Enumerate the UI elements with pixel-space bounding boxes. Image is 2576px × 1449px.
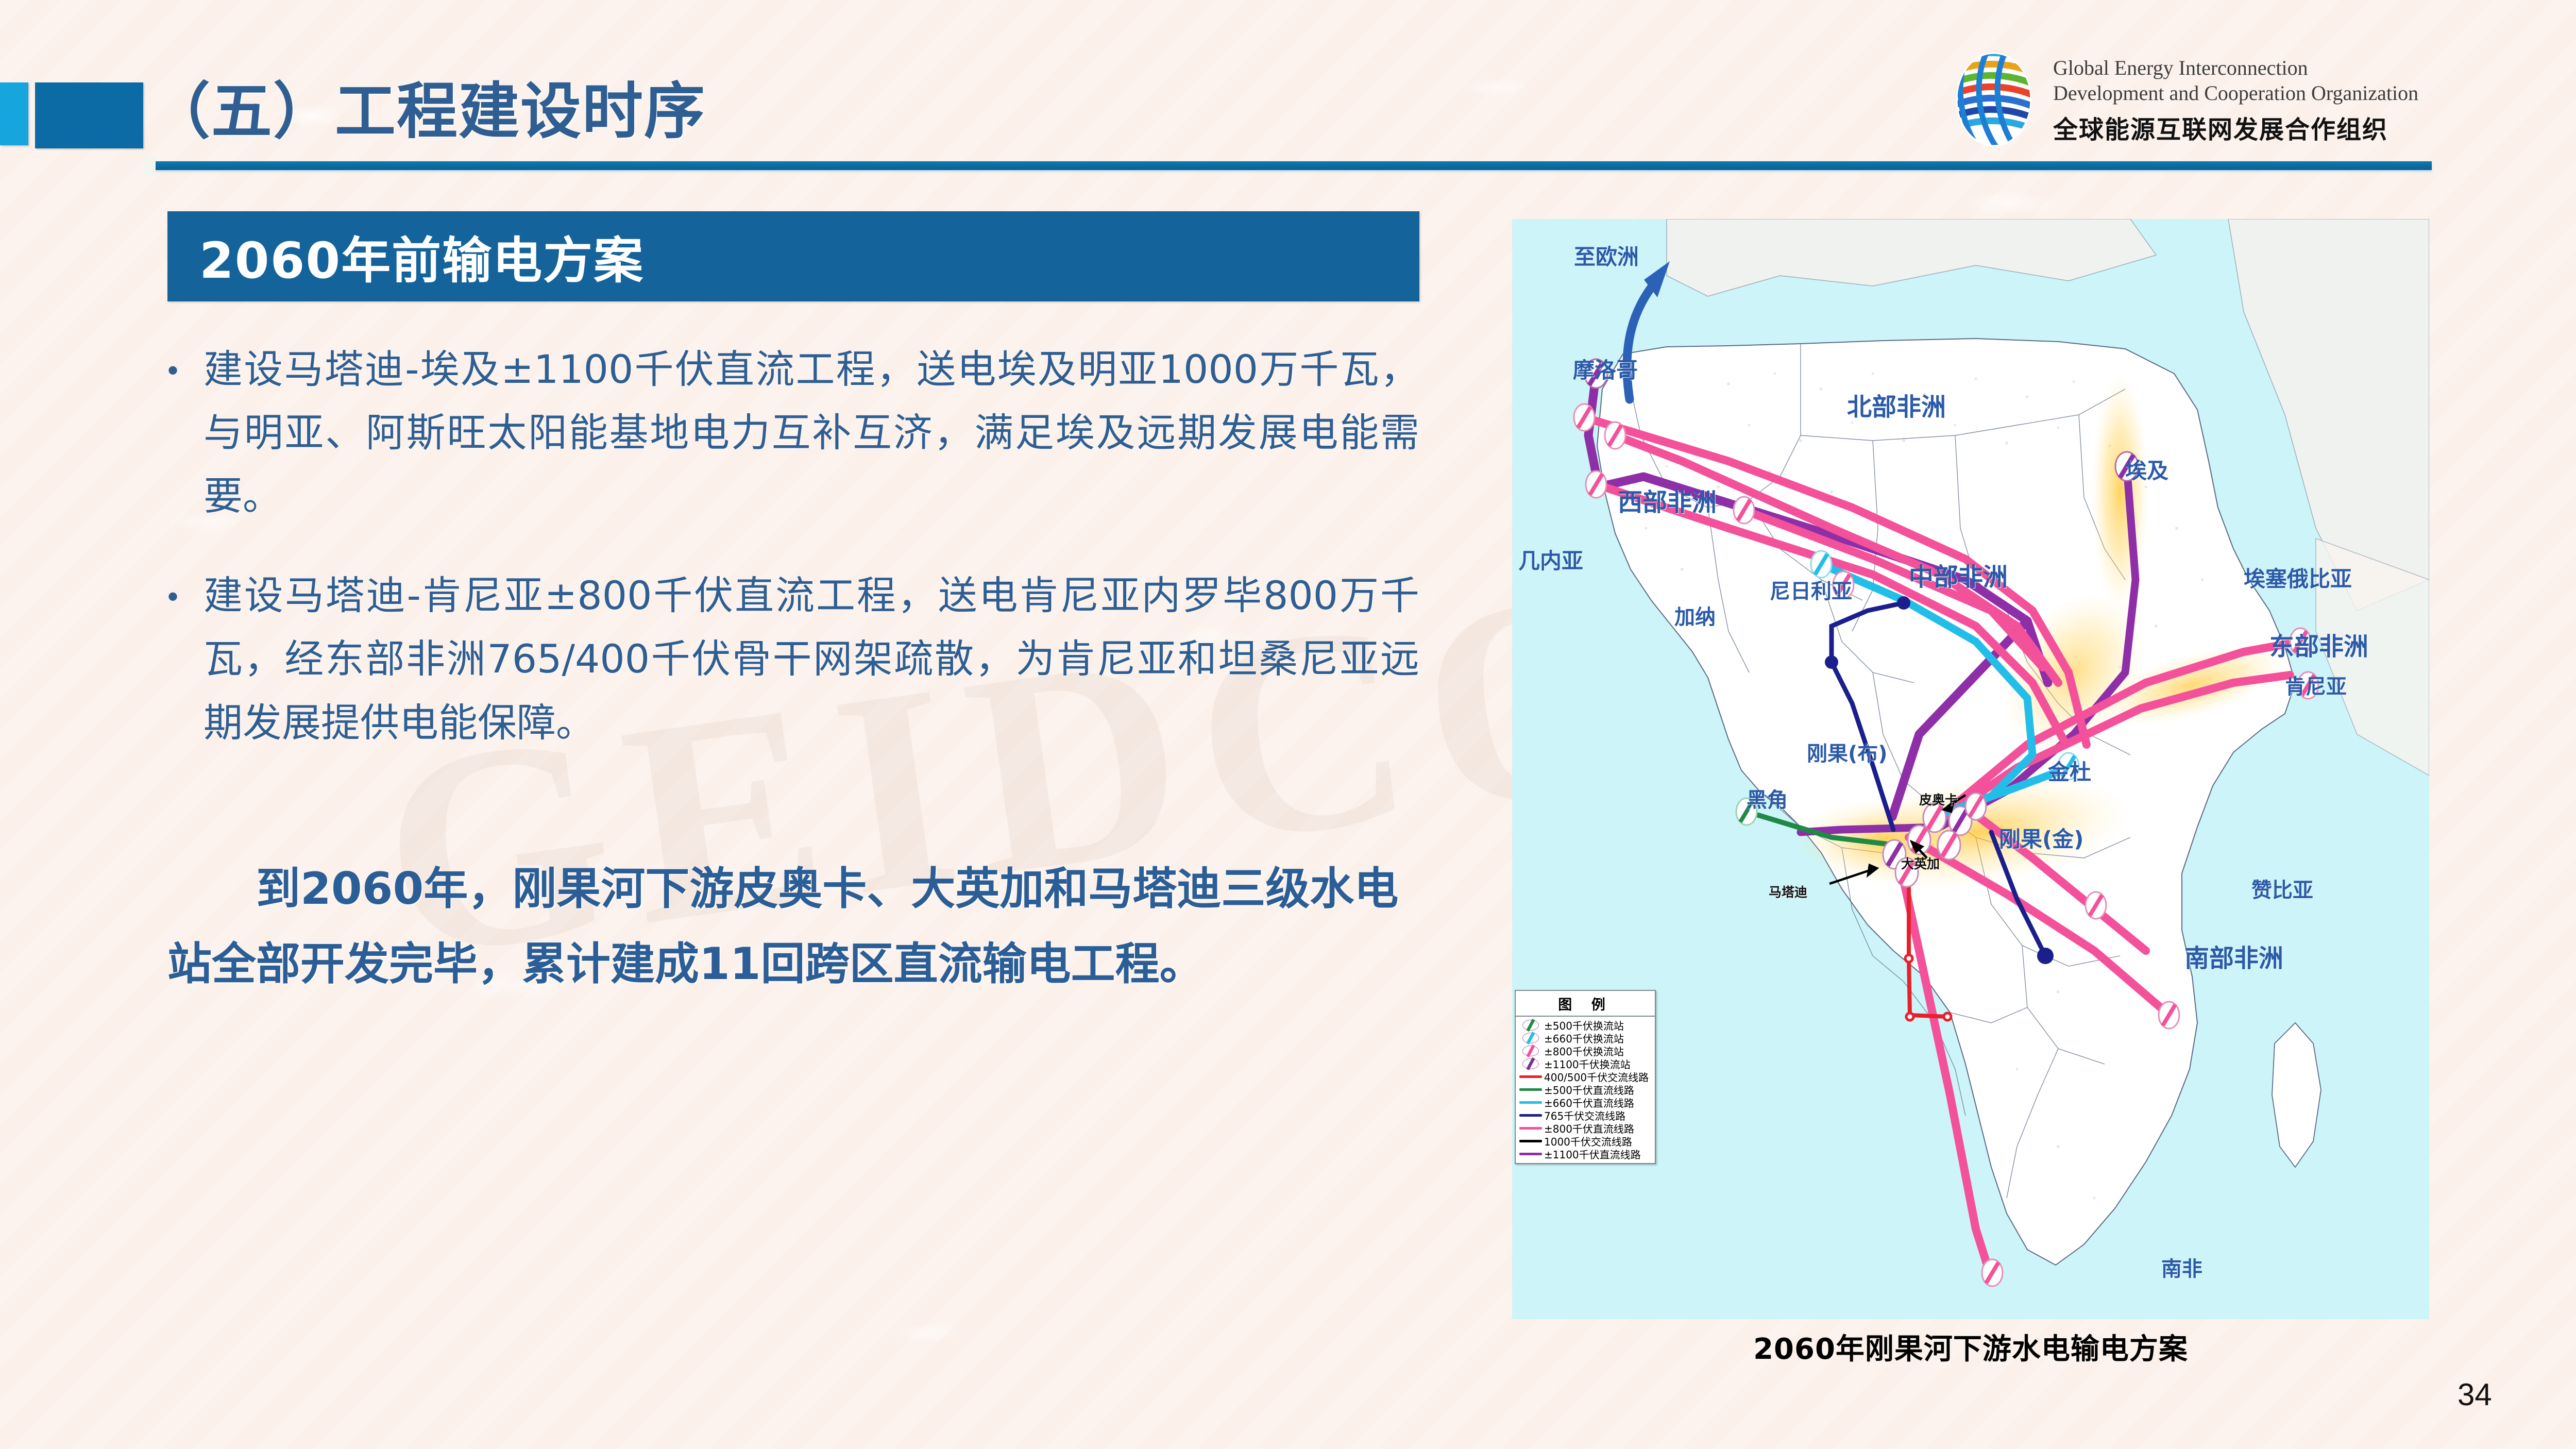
slide-body-left: 2060年前输电方案 • 建设马塔迪-埃及±1100千伏直流工程，送电埃及明亚1… [167, 211, 1419, 1002]
transmission-line-icon [1517, 1096, 1544, 1109]
legend-item: ±660千伏直流线路 [1517, 1096, 1653, 1109]
map-legend[interactable]: 图 例 ±500千伏换流站±660千伏换流站±800千伏换流站±1100千伏换流… [1515, 990, 1656, 1164]
legend-item: ±660千伏换流站 [1517, 1032, 1653, 1044]
legend-item: ±800千伏直流线路 [1517, 1122, 1653, 1135]
bullet-marker-icon: • [167, 338, 204, 528]
map-site-label: 马塔迪 [1769, 882, 1807, 901]
logo-english-line-2: Development and Cooperation Organization [2053, 81, 2548, 106]
bullet-item: • 建设马塔迪-肯尼亚±800千伏直流工程，送电肯尼亚内罗毕800万千瓦，经东部… [167, 564, 1419, 754]
converter-station-icon [1517, 1057, 1544, 1070]
map-caption: 2060年刚果河下游水电输电方案 [1512, 1326, 2429, 1368]
map-figure: 至欧洲摩洛哥北部非洲埃及西部非洲几内亚中部非洲埃塞俄比亚尼日利亚加纳东部非洲肯尼… [1512, 219, 2429, 1319]
bullet-item: • 建设马塔迪-埃及±1100千伏直流工程，送电埃及明亚1000万千瓦，与明亚、… [167, 338, 1419, 528]
header-decoration-blue-block [35, 82, 143, 148]
transmission-line-icon [1517, 1148, 1544, 1160]
section-banner: 2060年前输电方案 [167, 211, 1419, 301]
map-region-label: 加纳 [1674, 600, 1716, 630]
page-number: 34 [2458, 1377, 2492, 1412]
organization-logo: Global Energy Interconnection Developmen… [1947, 52, 2555, 149]
bullet-text-2: 建设马塔迪-肯尼亚±800千伏直流工程，送电肯尼亚内罗毕800万千瓦，经东部非洲… [204, 564, 1419, 754]
legend-item: 1000千伏交流线路 [1517, 1135, 1653, 1148]
legend-item: 765千伏交流线路 [1517, 1109, 1653, 1122]
map-region-label: 几内亚 [1518, 544, 1583, 575]
converter-station-icon [1517, 1044, 1544, 1057]
bullet-text-1: 建设马塔迪-埃及±1100千伏直流工程，送电埃及明亚1000万千瓦，与明亚、阿斯… [204, 338, 1419, 528]
map-canvas[interactable]: 至欧洲摩洛哥北部非洲埃及西部非洲几内亚中部非洲埃塞俄比亚尼日利亚加纳东部非洲肯尼… [1512, 219, 2429, 1319]
map-region-label: 南非 [2161, 1252, 2202, 1282]
map-region-label: 埃塞俄比亚 [2244, 562, 2352, 593]
map-region-label: 东部非洲 [2269, 626, 2368, 662]
map-region-label: 肯尼亚 [2285, 670, 2347, 700]
map-region-label: 至欧洲 [1574, 240, 1639, 271]
map-region-label: 南部非洲 [2184, 938, 2283, 974]
legend-item: ±500千伏换流站 [1517, 1019, 1653, 1032]
map-site-label: 大英加 [1901, 854, 1940, 872]
map-region-label: 尼日利亚 [1770, 575, 1852, 604]
map-region-label: 黑角 [1747, 783, 1788, 813]
logo-chinese-name: 全球能源互联网发展合作组织 [2053, 109, 2548, 145]
slide-header: （五）工程建设时序 [0, 0, 2576, 186]
legend-item: ±500千伏直流线路 [1517, 1083, 1653, 1096]
map-region-label: 西部非洲 [1618, 482, 1717, 518]
title-underline-cap [144, 156, 156, 176]
map-region-label: 金杜 [2048, 755, 2091, 786]
transmission-line-icon [1517, 1122, 1544, 1135]
transmission-line-icon [1517, 1109, 1544, 1122]
legend-item: ±1100千伏换流站 [1517, 1057, 1653, 1070]
section-banner-title: 2060年前输电方案 [199, 221, 644, 292]
title-underline-rule [155, 161, 2432, 170]
map-region-label: 北部非洲 [1847, 386, 1946, 423]
page-title: （五）工程建设时序 [149, 62, 706, 150]
map-region-label: 刚果(布) [1807, 737, 1888, 767]
globe-icon [1947, 52, 2040, 147]
legend-title: 图 例 [1516, 991, 1655, 1017]
transmission-line-icon [1517, 1083, 1544, 1096]
map-region-label: 刚果(金) [1999, 822, 2083, 853]
converter-station-icon [1517, 1032, 1544, 1044]
transmission-line-icon [1517, 1070, 1544, 1083]
map-site-label: 皮奥卡 [1919, 790, 1958, 808]
converter-station-icon [1517, 1019, 1544, 1032]
map-region-label: 埃及 [2125, 453, 2168, 485]
logo-english-line-1: Global Energy Interconnection [2053, 56, 2548, 81]
map-region-label: 赞比亚 [2251, 873, 2313, 903]
map-region-label: 中部非洲 [1909, 557, 2008, 593]
header-decoration-cyan-block [0, 82, 28, 145]
legend-item-list: ±500千伏换流站±660千伏换流站±800千伏换流站±1100千伏换流站400… [1516, 1017, 1655, 1163]
legend-item: 400/500千伏交流线路 [1517, 1070, 1653, 1083]
legend-item-label: ±1100千伏直流线路 [1544, 1147, 1641, 1161]
legend-item: ±800千伏换流站 [1517, 1044, 1653, 1057]
bullet-marker-icon: • [167, 564, 204, 754]
closing-paragraph: 到2060年，刚果河下游皮奥卡、大英加和马塔迪三级水电站全部开发完毕，累计建成1… [167, 851, 1419, 1002]
transmission-line-icon [1517, 1135, 1544, 1148]
map-region-label: 摩洛哥 [1573, 353, 1638, 384]
legend-item: ±1100千伏直流线路 [1517, 1148, 1653, 1160]
